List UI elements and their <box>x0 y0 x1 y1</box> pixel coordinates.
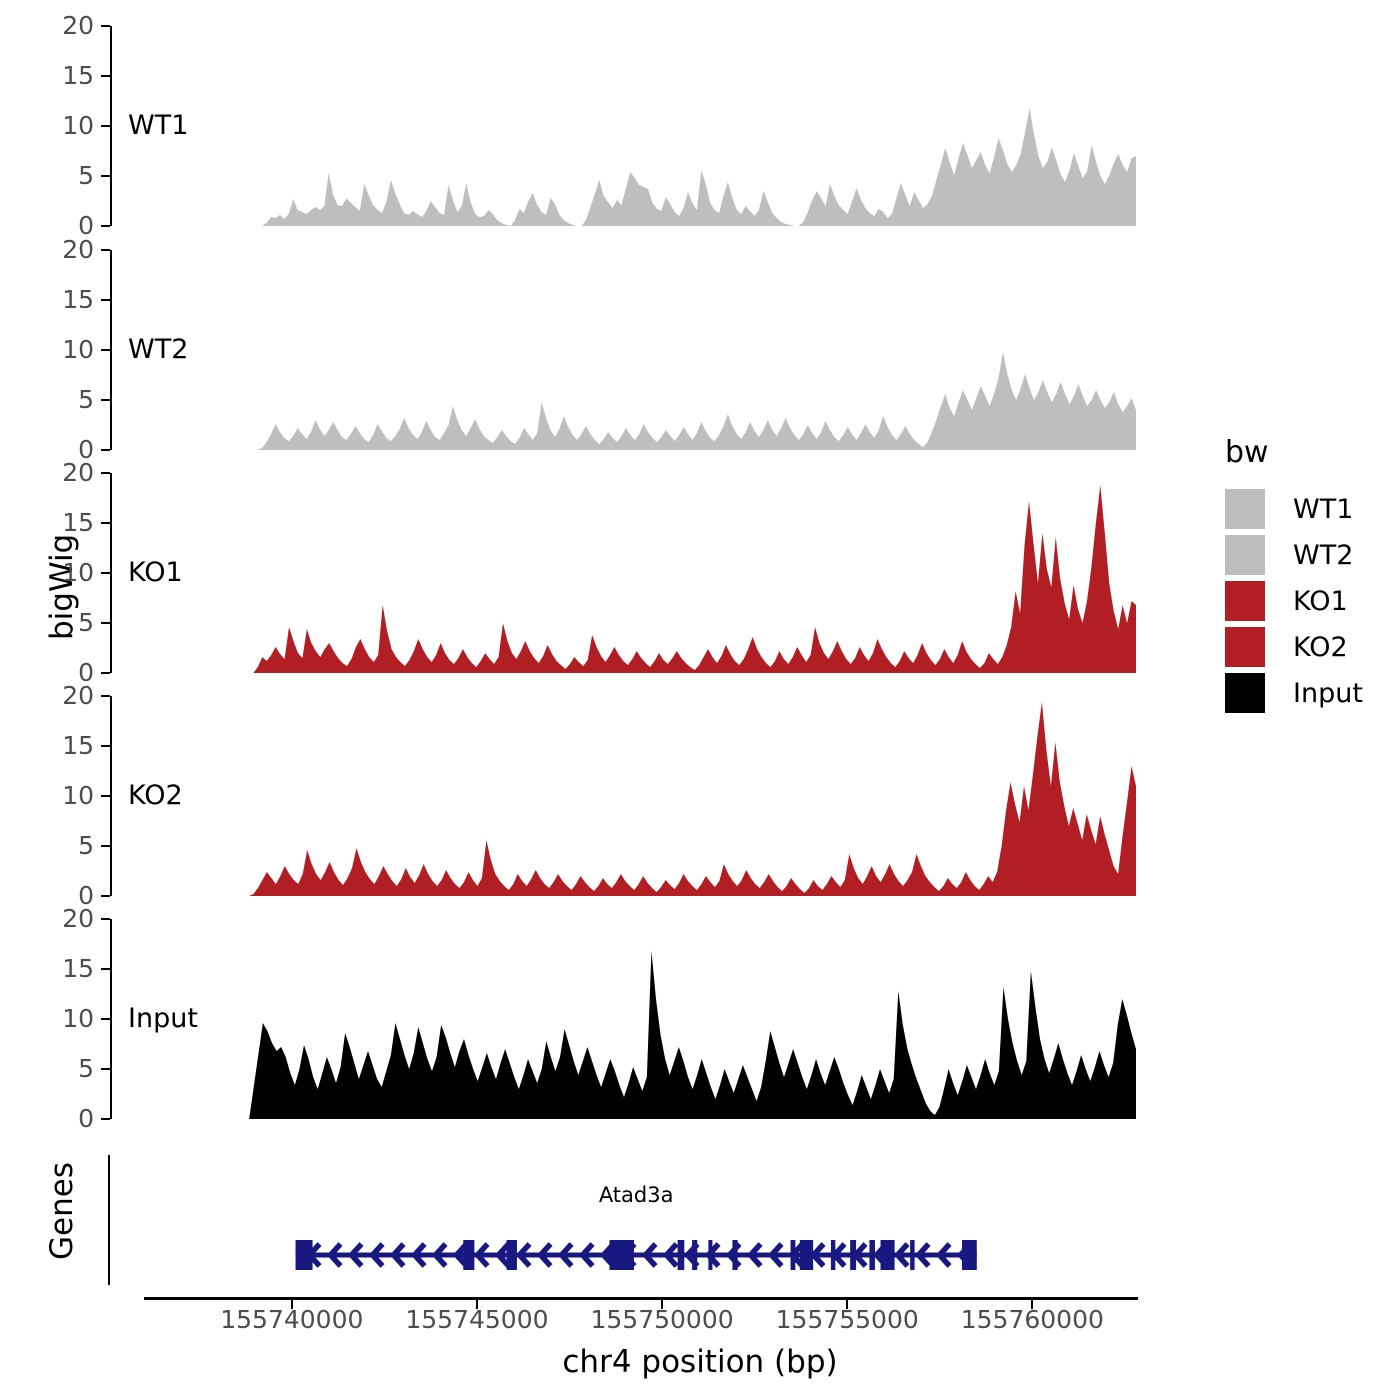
y-tick <box>101 75 110 77</box>
signal-area-ko2[interactable] <box>240 696 1136 896</box>
track-panel-input: 05101520Input <box>0 919 1400 1129</box>
y-tick <box>101 299 110 301</box>
y-tick-label: 5 <box>0 163 94 188</box>
legend-item-ko1[interactable]: KO1 <box>1225 578 1363 624</box>
legend-swatch <box>1225 535 1265 575</box>
y-tick <box>101 522 110 524</box>
y-tick-label: 15 <box>0 287 94 312</box>
legend-item-input[interactable]: Input <box>1225 670 1363 716</box>
signal-area-input[interactable] <box>240 919 1136 1119</box>
y-tick <box>101 25 110 27</box>
y-tick <box>101 349 110 351</box>
legend-label: KO2 <box>1293 632 1348 663</box>
legend-swatch <box>1225 627 1265 667</box>
y-tick <box>101 695 110 697</box>
y-axis-title-genes: Genes <box>44 1162 80 1260</box>
y-tick-label: 20 <box>0 906 94 931</box>
track-label-wt2: WT2 <box>128 334 188 365</box>
y-tick-label: 5 <box>0 387 94 412</box>
y-tick-label: 5 <box>0 1056 94 1081</box>
gene-exon <box>910 1240 914 1270</box>
y-tick <box>101 572 110 574</box>
signal-area-wt1[interactable] <box>240 26 1136 226</box>
y-tick <box>101 795 110 797</box>
gene-exon <box>296 1240 313 1270</box>
y-tick <box>101 399 110 401</box>
track-label-ko1: KO1 <box>128 557 183 588</box>
genes-panel: Atad3a <box>108 1155 1138 1285</box>
signal-area-ko1[interactable] <box>240 473 1136 673</box>
y-tick-label: 20 <box>0 460 94 485</box>
y-tick-label: 10 <box>0 560 94 585</box>
y-tick <box>101 125 110 127</box>
gene-exon <box>800 1240 813 1270</box>
y-tick-label: 20 <box>0 683 94 708</box>
y-tick-label: 15 <box>0 956 94 981</box>
gene-exon <box>507 1240 517 1270</box>
legend-items: WT1WT2KO1KO2Input <box>1225 486 1363 716</box>
legend-label: WT2 <box>1293 540 1353 571</box>
gene-exon <box>708 1240 712 1270</box>
gene-exon <box>831 1240 835 1270</box>
y-tick <box>101 175 110 177</box>
track-panel-wt1: 05101520WT1 <box>0 26 1400 236</box>
y-tick <box>101 1118 110 1120</box>
y-tick <box>101 249 110 251</box>
signal-area-wt2[interactable] <box>240 250 1136 450</box>
y-tick <box>101 225 110 227</box>
y-tick-label: 10 <box>0 1006 94 1031</box>
legend: bw WT1WT2KO1KO2Input <box>1225 435 1363 716</box>
y-tick <box>101 1018 110 1020</box>
gene-exon <box>881 1240 895 1270</box>
legend-swatch <box>1225 673 1265 713</box>
x-tick-label: 155760000 <box>922 1307 1142 1332</box>
gene-exon <box>678 1240 685 1270</box>
track-panel-ko2: 05101520KO2 <box>0 696 1400 906</box>
y-tick <box>101 449 110 451</box>
y-axis-line-ko2 <box>110 696 112 896</box>
gene-model[interactable] <box>108 1155 1138 1285</box>
track-label-ko2: KO2 <box>128 780 183 811</box>
legend-label: KO1 <box>1293 586 1348 617</box>
track-label-wt1: WT1 <box>128 110 188 141</box>
y-tick-label: 20 <box>0 13 94 38</box>
y-tick <box>101 1068 110 1070</box>
gene-exon <box>692 1240 697 1270</box>
y-tick <box>101 918 110 920</box>
y-tick <box>101 622 110 624</box>
y-tick-label: 10 <box>0 783 94 808</box>
legend-title: bw <box>1225 435 1363 470</box>
track-panel-wt2: 05101520WT2 <box>0 250 1400 460</box>
y-tick <box>101 895 110 897</box>
y-tick-label: 10 <box>0 113 94 138</box>
y-tick-label: 5 <box>0 610 94 635</box>
gene-exon <box>962 1240 977 1270</box>
y-axis-line-wt1 <box>110 26 112 226</box>
y-tick-label: 15 <box>0 63 94 88</box>
x-axis-title: chr4 position (bp) <box>0 1344 1400 1380</box>
y-tick-label: 10 <box>0 337 94 362</box>
y-tick-label: 15 <box>0 510 94 535</box>
y-axis-line-wt2 <box>110 250 112 450</box>
gene-exon <box>850 1240 856 1270</box>
gene-exon <box>463 1240 474 1270</box>
gene-exon <box>791 1240 796 1270</box>
y-tick-label: 15 <box>0 733 94 758</box>
legend-swatch <box>1225 581 1265 621</box>
y-tick-label: 0 <box>0 1106 94 1131</box>
track-label-input: Input <box>128 1003 198 1034</box>
legend-swatch <box>1225 489 1265 529</box>
y-axis-line-input <box>110 919 112 1119</box>
y-tick <box>101 968 110 970</box>
track-panel-ko1: 05101520KO1 <box>0 473 1400 683</box>
legend-item-wt1[interactable]: WT1 <box>1225 486 1363 532</box>
x-axis-line <box>144 1297 1138 1300</box>
legend-item-wt2[interactable]: WT2 <box>1225 532 1363 578</box>
y-tick-label: 5 <box>0 833 94 858</box>
gene-exon <box>869 1240 875 1270</box>
y-tick <box>101 745 110 747</box>
y-tick <box>101 845 110 847</box>
y-tick-label: 20 <box>0 237 94 262</box>
y-tick <box>101 472 110 474</box>
gene-exon <box>732 1240 737 1270</box>
y-tick <box>101 672 110 674</box>
legend-item-ko2[interactable]: KO2 <box>1225 624 1363 670</box>
y-axis-line-ko1 <box>110 473 112 673</box>
gene-exon <box>610 1240 634 1270</box>
legend-label: WT1 <box>1293 494 1353 525</box>
legend-label: Input <box>1293 678 1363 709</box>
